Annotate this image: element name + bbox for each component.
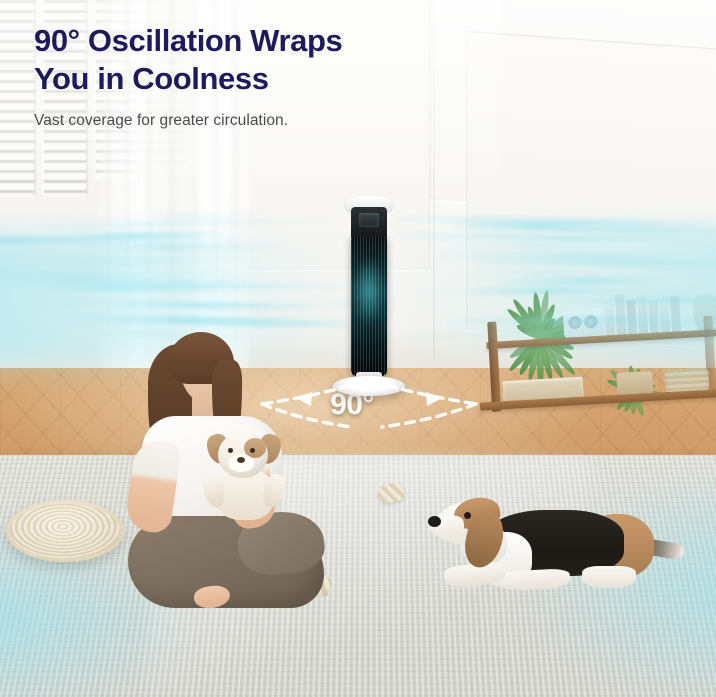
dog-hind-leg bbox=[582, 566, 636, 588]
straw-floor-pouf bbox=[6, 500, 124, 562]
tower-fan bbox=[347, 196, 391, 386]
book bbox=[604, 299, 615, 339]
dog-nose bbox=[428, 516, 441, 527]
fan-screen bbox=[359, 213, 379, 227]
book bbox=[615, 294, 626, 338]
dog-front-leg bbox=[498, 568, 571, 592]
headline-block: 90° Oscillation Wraps You in Coolness Va… bbox=[34, 22, 342, 130]
book bbox=[626, 300, 637, 338]
page-subtitle: Vast coverage for greater circulation. bbox=[34, 112, 342, 130]
book bbox=[670, 296, 681, 335]
speaker bbox=[563, 308, 605, 338]
fan-base bbox=[333, 376, 405, 396]
book bbox=[648, 301, 659, 337]
promo-image: 90° 90° Oscillation Wraps You in Coolnes… bbox=[0, 0, 716, 697]
plush-dog-toy bbox=[206, 426, 292, 522]
book bbox=[637, 295, 648, 337]
shutter-panel bbox=[0, 0, 36, 195]
wooden-shelf-unit bbox=[474, 281, 716, 454]
plush-eye-right bbox=[250, 448, 255, 453]
wall-corner-seam bbox=[433, 0, 435, 360]
beagle-dog bbox=[432, 488, 680, 612]
fan-airflow-glow bbox=[353, 256, 385, 326]
dog-eye bbox=[464, 512, 471, 519]
page-title: 90° Oscillation Wraps You in Coolness bbox=[34, 22, 342, 98]
pouf-weave bbox=[10, 504, 120, 558]
book bbox=[659, 295, 670, 336]
plush-nose bbox=[237, 457, 245, 463]
plush-eye-left bbox=[228, 448, 233, 453]
